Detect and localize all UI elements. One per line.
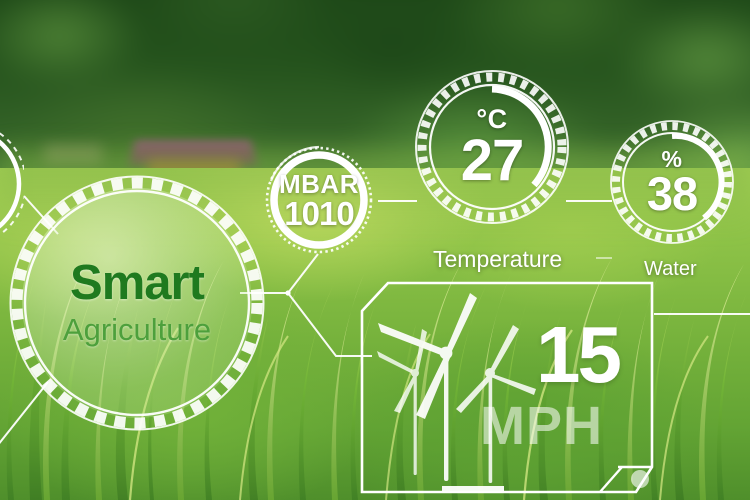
temperature-value: 27: [461, 134, 524, 187]
smart-agriculture-text: Smart Agriculture: [10, 176, 264, 430]
water-readout: % 38: [608, 118, 736, 246]
gauge-smart-agriculture[interactable]: Smart Agriculture: [10, 176, 264, 430]
panel-status-dot: [631, 470, 649, 488]
gauge-water[interactable]: % 38: [608, 118, 736, 246]
wind-speed-value: 15: [536, 315, 619, 395]
pressure-readout: MBAR 1010: [264, 145, 374, 255]
pressure-unit: MBAR: [279, 171, 359, 197]
water-value: 38: [647, 172, 697, 215]
gauge-pressure[interactable]: MBAR 1010: [264, 145, 374, 255]
panel-wind-speed[interactable]: 15 MPH: [360, 281, 654, 494]
pressure-value: 1010: [284, 199, 353, 229]
water-label: Water: [644, 258, 697, 281]
panel-bottom-tab: [442, 486, 504, 492]
dashboard-scene: Smart Agriculture MBAR 1010 °C 27: [0, 0, 750, 500]
network-junction-node: [285, 290, 290, 295]
wind-speed-unit: MPH: [480, 399, 603, 453]
temperature-readout: °C 27: [412, 67, 572, 227]
temperature-label: Temperature: [433, 246, 562, 273]
brand-line-2: Agriculture: [63, 314, 211, 347]
gauge-temperature[interactable]: °C 27: [412, 67, 572, 227]
brand-line-1: Smart: [70, 259, 204, 308]
